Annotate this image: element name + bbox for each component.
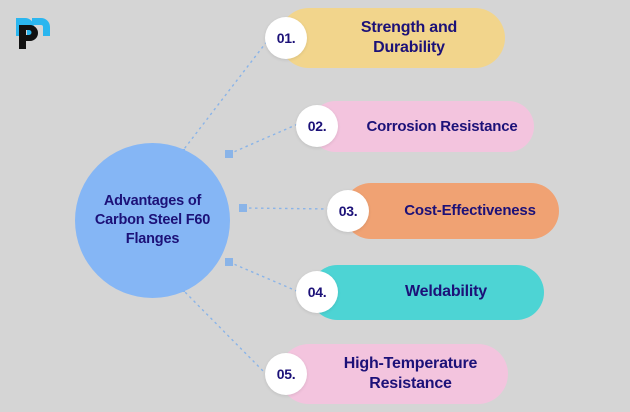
list-item[interactable]: High-Temperature Resistance 05. — [265, 341, 508, 407]
item-label-1: Strength and Durability — [279, 18, 505, 59]
item-badge-1: 01. — [265, 17, 307, 59]
list-item[interactable]: Weldability 04. — [296, 263, 544, 321]
item-badge-2: 02. — [296, 105, 338, 147]
infographic-canvas: Advantages of Carbon Steel F60 Flanges S… — [0, 0, 630, 412]
item-number-5: 05. — [277, 366, 296, 382]
list-item[interactable]: Corrosion Resistance 02. — [296, 99, 534, 155]
arc-node-2 — [225, 150, 233, 158]
item-pill-3[interactable]: Cost-Effectiveness — [343, 183, 559, 239]
item-label-3: Cost-Effectiveness — [343, 201, 559, 220]
list-item[interactable]: Strength and Durability 01. — [265, 5, 505, 71]
spoke-5 — [181, 288, 268, 376]
item-label-5: High-Temperature Resistance — [279, 354, 508, 395]
item-pill-1[interactable]: Strength and Durability — [279, 8, 505, 68]
arc-node-4 — [225, 258, 233, 266]
list-item[interactable]: Cost-Effectiveness 03. — [327, 181, 559, 241]
center-topic-label: Advantages of Carbon Steel F60 Flanges — [89, 192, 216, 249]
arc-node-3 — [239, 204, 247, 212]
spoke-1 — [181, 40, 268, 153]
item-number-2: 02. — [308, 118, 327, 134]
item-label-2: Corrosion Resistance — [310, 117, 534, 136]
item-pill-2[interactable]: Corrosion Resistance — [310, 101, 534, 152]
item-number-4: 04. — [308, 284, 327, 300]
item-badge-4: 04. — [296, 271, 338, 313]
item-number-1: 01. — [277, 30, 296, 46]
spoke-2 — [229, 124, 298, 154]
item-badge-3: 03. — [327, 190, 369, 232]
item-badge-5: 05. — [265, 353, 307, 395]
spoke-4 — [229, 262, 299, 292]
item-label-4: Weldability — [310, 282, 544, 302]
item-pill-4[interactable]: Weldability — [310, 265, 544, 320]
item-number-3: 03. — [339, 203, 358, 219]
spoke-3 — [243, 208, 330, 209]
center-topic-circle: Advantages of Carbon Steel F60 Flanges — [75, 143, 230, 298]
item-pill-5[interactable]: High-Temperature Resistance — [279, 344, 508, 404]
